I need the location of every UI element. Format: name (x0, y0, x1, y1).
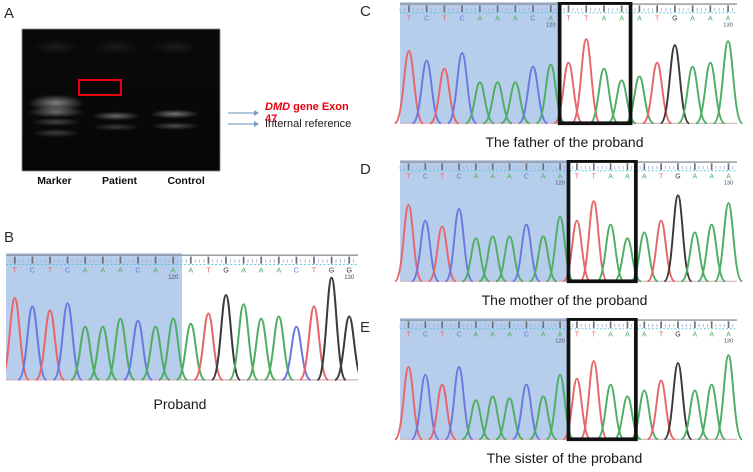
panel-d-chromatogram-mother: D TCTCAAACAATTAAATGAAA120130 The mother … (376, 158, 753, 313)
svg-text:A: A (726, 174, 731, 181)
svg-text:G: G (223, 265, 229, 274)
svg-text:A: A (637, 16, 642, 23)
svg-text:C: C (531, 16, 536, 23)
panel-letter-c: C (360, 4, 371, 19)
gel-lane-label: Marker (37, 175, 71, 187)
svg-text:130: 130 (724, 181, 734, 187)
svg-text:A: A (619, 16, 624, 23)
svg-text:G: G (672, 16, 677, 23)
svg-text:A: A (693, 332, 698, 339)
svg-text:T: T (584, 16, 589, 23)
panel-b-chromatogram-proband: B TCTCAAACAAATGAAACTGG120130 Proband (0, 228, 360, 418)
svg-text:T: T (575, 174, 580, 181)
svg-text:T: T (312, 265, 317, 274)
svg-text:C: C (423, 174, 428, 181)
svg-text:A: A (558, 174, 563, 181)
svg-text:A: A (83, 265, 88, 274)
svg-text:120: 120 (555, 339, 565, 345)
svg-text:G: G (346, 265, 352, 274)
svg-text:A: A (118, 265, 123, 274)
chromatogram-plot-b: TCTCAAACAAATGAAACTGG120130 (6, 250, 358, 390)
svg-text:130: 130 (724, 339, 734, 345)
gene-name-dmd: DMD (265, 101, 290, 113)
panel-b-caption: Proband (0, 396, 360, 412)
svg-text:A: A (602, 16, 607, 23)
svg-text:A: A (474, 332, 479, 339)
svg-text:C: C (524, 174, 529, 181)
panel-letter-d: D (360, 162, 371, 177)
svg-text:A: A (507, 332, 512, 339)
svg-text:A: A (153, 265, 158, 274)
svg-text:120: 120 (546, 23, 556, 29)
svg-text:A: A (726, 332, 731, 339)
svg-text:130: 130 (344, 275, 355, 281)
svg-text:T: T (566, 16, 571, 23)
svg-text:C: C (457, 174, 462, 181)
panel-letter-a: A (4, 6, 14, 21)
svg-text:A: A (259, 265, 264, 274)
svg-text:C: C (524, 332, 529, 339)
svg-text:A: A (693, 174, 698, 181)
svg-text:T: T (575, 332, 580, 339)
svg-text:A: A (490, 174, 495, 181)
svg-text:A: A (709, 332, 714, 339)
panel-a-gel-electrophoresis: A Marker Patient Control DMD gene Exon 4… (0, 0, 360, 225)
annotation-internal-reference: Internal reference (228, 118, 351, 130)
svg-text:A: A (642, 174, 647, 181)
svg-text:C: C (65, 265, 70, 274)
svg-text:A: A (474, 174, 479, 181)
svg-text:A: A (495, 16, 500, 23)
svg-text:A: A (241, 265, 246, 274)
svg-text:C: C (294, 265, 299, 274)
svg-text:A: A (625, 174, 630, 181)
panel-c-chromatogram-father: C TCTCAAACATTAAATGAAA120130 The father o… (376, 0, 753, 155)
svg-text:T: T (659, 174, 664, 181)
chromatogram-plot-d: TCTCAAACAATTAAATGAAA120130 (384, 160, 753, 288)
annotation-internal-reference-label: Internal reference (265, 118, 351, 130)
svg-text:A: A (625, 332, 630, 339)
svg-text:A: A (478, 16, 483, 23)
svg-text:T: T (659, 332, 664, 339)
svg-text:T: T (440, 332, 445, 339)
svg-text:A: A (608, 174, 613, 181)
svg-text:C: C (424, 16, 429, 23)
chromatogram-plot-c: TCTCAAACATTAAATGAAA120130 (384, 2, 753, 130)
svg-text:A: A (690, 16, 695, 23)
svg-text:A: A (709, 174, 714, 181)
svg-text:A: A (558, 332, 563, 339)
svg-text:120: 120 (168, 275, 179, 281)
panel-letter-e: E (360, 320, 370, 335)
svg-text:T: T (440, 174, 445, 181)
svg-text:C: C (457, 332, 462, 339)
gel-image (22, 29, 220, 171)
gel-highlight-box (78, 79, 122, 96)
gel-lane-labels: Marker Patient Control (22, 175, 220, 187)
panel-d-caption: The mother of the proband (376, 292, 753, 308)
panel-e-caption: The sister of the proband (376, 450, 753, 466)
svg-text:A: A (490, 332, 495, 339)
svg-text:C: C (460, 16, 465, 23)
gel-lane-label: Control (167, 175, 204, 187)
svg-text:G: G (675, 174, 680, 181)
svg-text:C: C (423, 332, 428, 339)
svg-text:A: A (548, 16, 553, 23)
svg-text:A: A (642, 332, 647, 339)
svg-text:T: T (206, 265, 211, 274)
svg-text:C: C (135, 265, 140, 274)
arrow-right-icon (228, 109, 260, 117)
svg-text:A: A (541, 332, 546, 339)
svg-text:T: T (48, 265, 53, 274)
svg-text:G: G (329, 265, 335, 274)
svg-text:A: A (513, 16, 518, 23)
svg-text:A: A (507, 174, 512, 181)
svg-text:C: C (30, 265, 35, 274)
svg-text:130: 130 (723, 23, 733, 29)
svg-text:T: T (592, 174, 597, 181)
panel-letter-b: B (4, 230, 14, 245)
svg-text:T: T (655, 16, 660, 23)
svg-text:T: T (13, 265, 18, 274)
panel-c-caption: The father of the proband (376, 134, 753, 150)
gel-lane-label: Patient (102, 175, 137, 187)
svg-text:A: A (276, 265, 281, 274)
svg-text:A: A (708, 16, 713, 23)
arrow-right-icon (228, 120, 260, 128)
svg-text:T: T (592, 332, 597, 339)
svg-text:120: 120 (555, 181, 565, 187)
chromatogram-plot-e: TCTCAAACAATTAAATGAAA120130 (384, 318, 753, 446)
panel-e-chromatogram-sister: E TCTCAAACAATTAAATGAAA120130 The sister … (376, 316, 753, 472)
svg-text:A: A (188, 265, 193, 274)
svg-text:G: G (675, 332, 680, 339)
svg-text:A: A (726, 16, 731, 23)
svg-text:A: A (608, 332, 613, 339)
svg-text:A: A (541, 174, 546, 181)
svg-text:A: A (171, 265, 176, 274)
svg-text:A: A (100, 265, 105, 274)
